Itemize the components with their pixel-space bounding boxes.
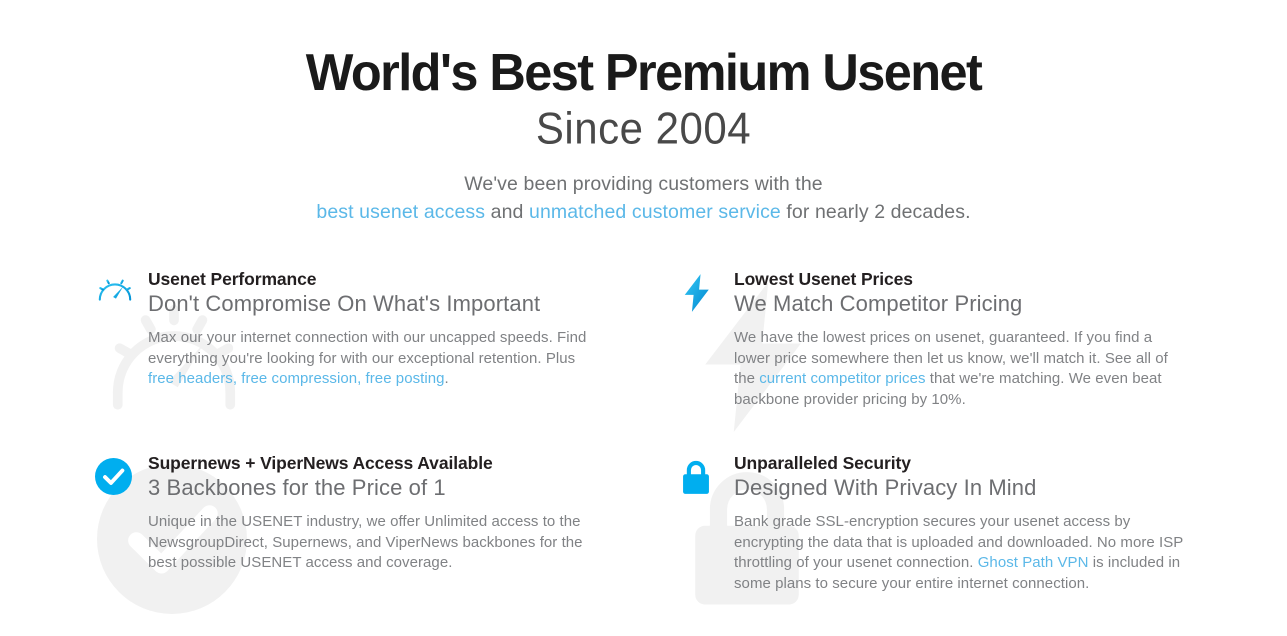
features-grid: Usenet Performance Don't Compromise On W… bbox=[0, 268, 1287, 612]
feature-description: Max our your internet connection with ou… bbox=[148, 328, 603, 390]
lightning-bolt-icon bbox=[681, 274, 734, 317]
hero-lede-line-2: best usenet access and unmatched custome… bbox=[264, 198, 1024, 226]
feature-subtitle: We Match Competitor Pricing bbox=[734, 290, 1189, 317]
feature-icon-column bbox=[95, 268, 148, 311]
feature-title: Unparalleled Security bbox=[734, 452, 1189, 474]
feature-title: Usenet Performance bbox=[148, 268, 603, 290]
feature-body: Usenet Performance Don't Compromise On W… bbox=[148, 268, 603, 390]
feature-body: Lowest Usenet Prices We Match Competitor… bbox=[734, 268, 1189, 410]
feature-subtitle: Don't Compromise On What's Important bbox=[148, 290, 603, 317]
feature-description: Unique in the USENET industry, we offer … bbox=[148, 512, 603, 574]
feature-icon-column bbox=[681, 452, 734, 501]
feature-body: Supernews + ViperNews Access Available 3… bbox=[148, 452, 603, 574]
feature-description: We have the lowest prices on usenet, gua… bbox=[734, 328, 1189, 410]
feature-description-part-a: Max our your internet connection with ou… bbox=[148, 329, 586, 367]
link-best-usenet-access[interactable]: best usenet access bbox=[316, 201, 485, 223]
hero-lede-conjunction: and bbox=[485, 201, 529, 223]
feature-supernews-vipernews-access: Supernews + ViperNews Access Available 3… bbox=[95, 452, 681, 612]
hero-lede-tail: for nearly 2 decades. bbox=[781, 201, 971, 223]
hero-lede-line-1: We've been providing customers with the bbox=[264, 170, 1024, 198]
feature-subtitle: Designed With Privacy In Mind bbox=[734, 474, 1189, 501]
feature-description: Bank grade SSL-encryption secures your u… bbox=[734, 512, 1189, 594]
feature-icon-column bbox=[95, 452, 148, 500]
feature-description-part-b: . bbox=[445, 370, 449, 387]
feature-title: Lowest Usenet Prices bbox=[734, 268, 1189, 290]
feature-description-part-a: Unique in the USENET industry, we offer … bbox=[148, 513, 583, 571]
link-free-headers-compression-posting[interactable]: free headers, free compression, free pos… bbox=[148, 370, 445, 387]
feature-title: Supernews + ViperNews Access Available bbox=[148, 452, 603, 474]
feature-subtitle: 3 Backbones for the Price of 1 bbox=[148, 474, 603, 501]
hero-lede: We've been providing customers with the … bbox=[264, 170, 1024, 226]
link-unmatched-customer-service[interactable]: unmatched customer service bbox=[529, 201, 781, 223]
padlock-icon bbox=[681, 458, 734, 501]
feature-usenet-performance: Usenet Performance Don't Compromise On W… bbox=[95, 268, 681, 428]
page-subtitle: Since 2004 bbox=[0, 103, 1287, 156]
hero-section: World's Best Premium Usenet Since 2004 W… bbox=[0, 0, 1287, 226]
feature-icon-column bbox=[681, 268, 734, 317]
page-title: World's Best Premium Usenet bbox=[19, 44, 1267, 102]
feature-body: Unparalleled Security Designed With Priv… bbox=[734, 452, 1189, 594]
check-circle-icon bbox=[95, 458, 148, 500]
link-current-competitor-prices[interactable]: current competitor prices bbox=[759, 370, 925, 387]
link-ghost-path-vpn[interactable]: Ghost Path VPN bbox=[978, 554, 1089, 571]
feature-unparalleled-security: Unparalleled Security Designed With Priv… bbox=[681, 452, 1267, 612]
feature-lowest-usenet-prices: Lowest Usenet Prices We Match Competitor… bbox=[681, 268, 1267, 428]
speedometer-icon bbox=[95, 274, 148, 311]
